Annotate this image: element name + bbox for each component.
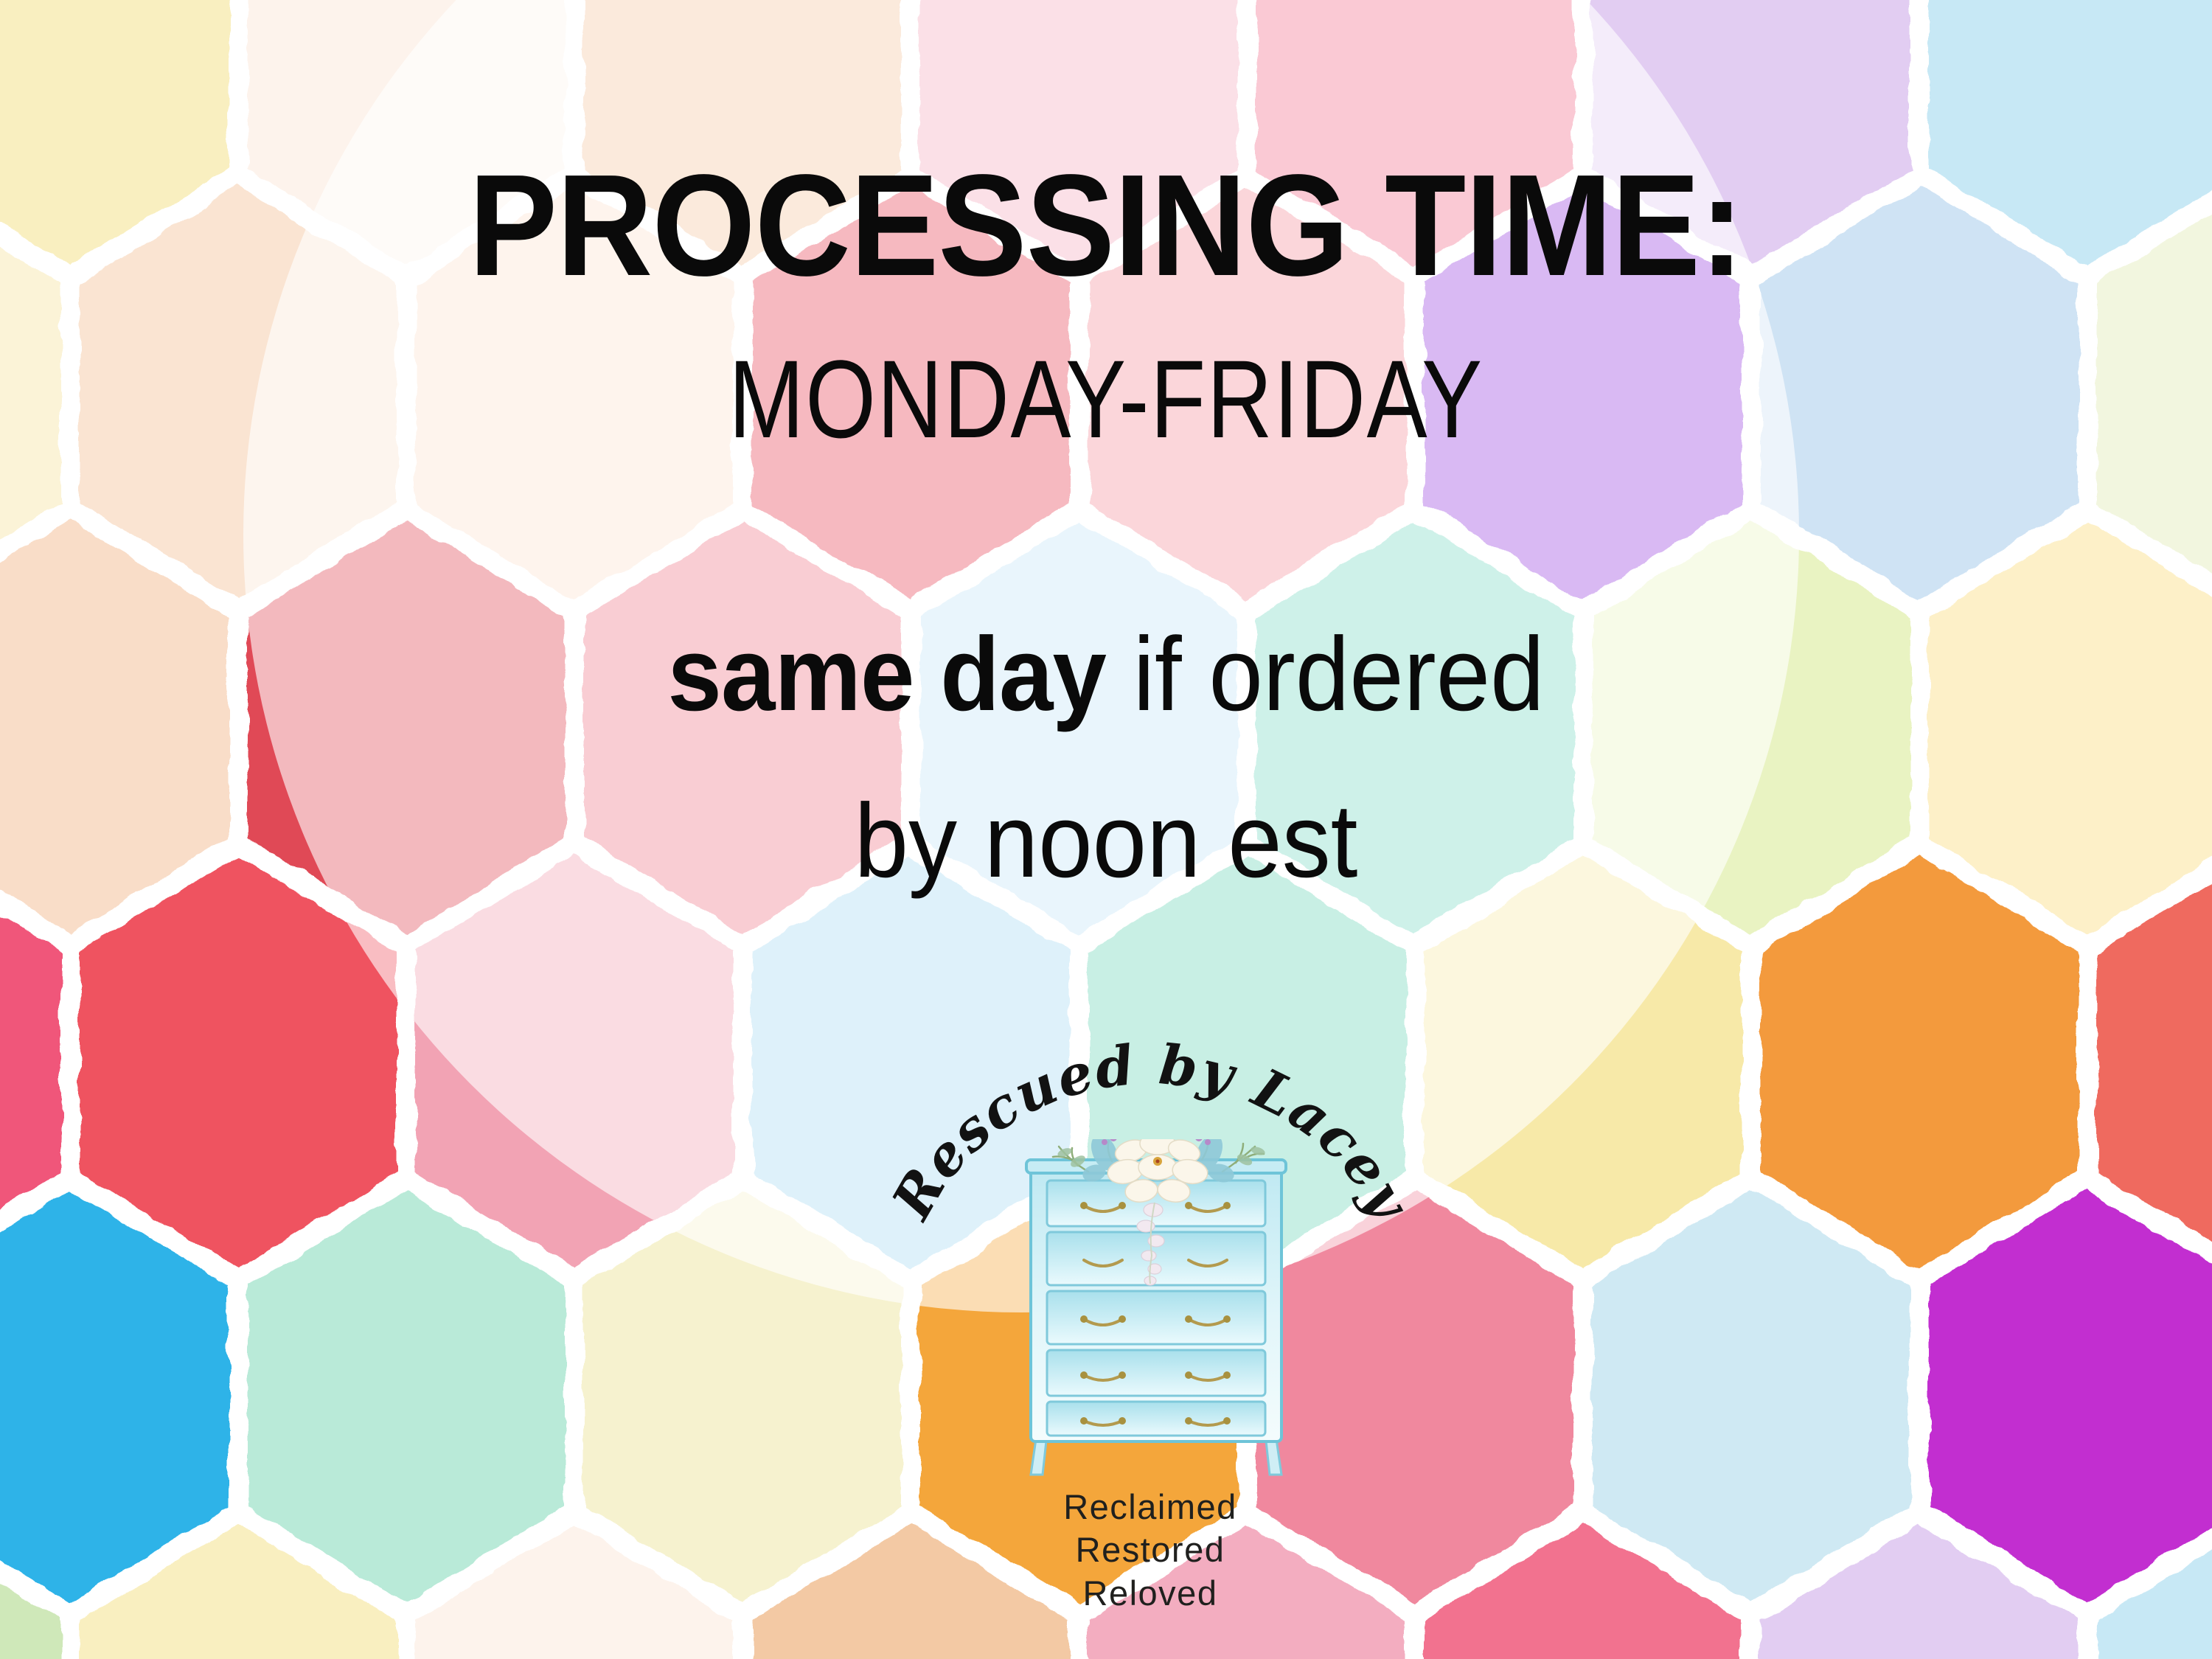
promise-line-2: by noon est	[77, 789, 2135, 894]
promise-line-1: same day if ordered	[77, 622, 2135, 727]
brand-logo: Rescued by Lacey	[877, 1014, 1423, 1604]
promise-emphasis: same day	[667, 616, 1106, 733]
subtitle-weekdays: MONDAY-FRIDAY	[199, 344, 2013, 454]
tagline-line-1: Reclaimed	[877, 1486, 1423, 1528]
promise-remainder: if ordered	[1106, 616, 1545, 733]
message-block: PROCESSING TIME: MONDAY-FRIDAY same day …	[0, 0, 2212, 894]
tagline-line-3: Reloved	[877, 1572, 1423, 1615]
processing-time-graphic: PROCESSING TIME: MONDAY-FRIDAY same day …	[0, 0, 2212, 1659]
dresser-illustration	[1001, 1139, 1311, 1486]
page-title: PROCESSING TIME:	[88, 153, 2124, 298]
tagline-line-2: Restored	[877, 1528, 1423, 1571]
brand-tagline: Reclaimed Restored Reloved	[877, 1486, 1423, 1615]
